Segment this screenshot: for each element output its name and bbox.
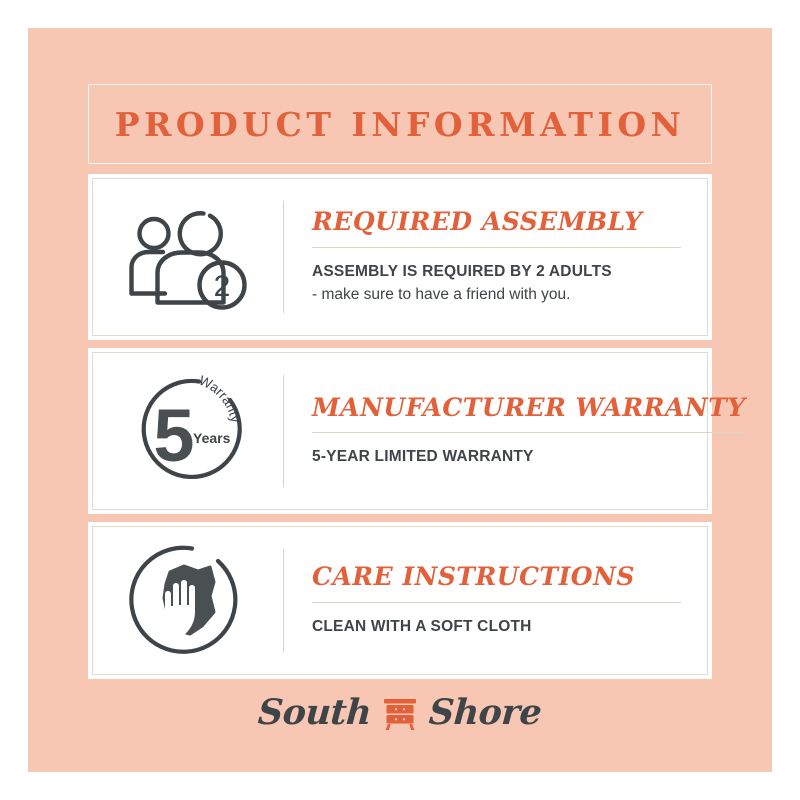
card-heading: REQUIRED ASSEMBLY [312,208,681,236]
card-body-primary: 5-YEAR LIMITED WARRANTY [312,447,746,468]
dresser-icon [380,692,420,732]
card-body-secondary: - make sure to have a friend with you. [312,284,681,306]
warranty-icon-cell: 5 Years Warranty [93,353,283,509]
card-heading: MANUFACTURER WARRANTY [312,394,746,422]
warranty-arc-label: Warranty [197,373,243,424]
warranty-years-number: 5 [153,394,194,477]
hand-with-cloth-care-icon [126,542,250,660]
poster-background: PRODUCT INFORMATION [28,28,772,772]
two-people-assembly-icon: 2 [123,201,253,313]
info-card-required-assembly: 2 REQUIRED ASSEMBLY ASSEMBLY IS REQUIRED… [88,174,712,340]
brand-logo-word-south: South [257,695,373,730]
heading-rule [312,432,746,433]
card-body-primary: CLEAN WITH A SOFT CLOTH [312,617,681,638]
warranty-years-label: Years [193,430,231,446]
info-card-manufacturer-warranty: 5 Years Warranty MANUFACTURER WARRANTY 5… [88,348,712,514]
heading-rule [312,247,681,248]
heading-rule [312,602,681,603]
card-body-primary: ASSEMBLY IS REQUIRED BY 2 ADULTS [312,262,681,283]
five-year-warranty-badge-icon: 5 Years Warranty [120,369,256,493]
page-title: PRODUCT INFORMATION [115,108,686,141]
info-card-care-instructions: CARE INSTRUCTIONS CLEAN WITH A SOFT CLOT… [88,522,712,679]
care-icon-cell [93,527,283,674]
brand-logo: South Shore [28,692,772,732]
page-title-box: PRODUCT INFORMATION [88,84,712,164]
assembly-people-count: 2 [214,270,231,303]
brand-logo-word-shore: Shore [428,695,543,730]
card-heading: CARE INSTRUCTIONS [312,563,681,591]
assembly-icon-cell: 2 [93,179,283,335]
